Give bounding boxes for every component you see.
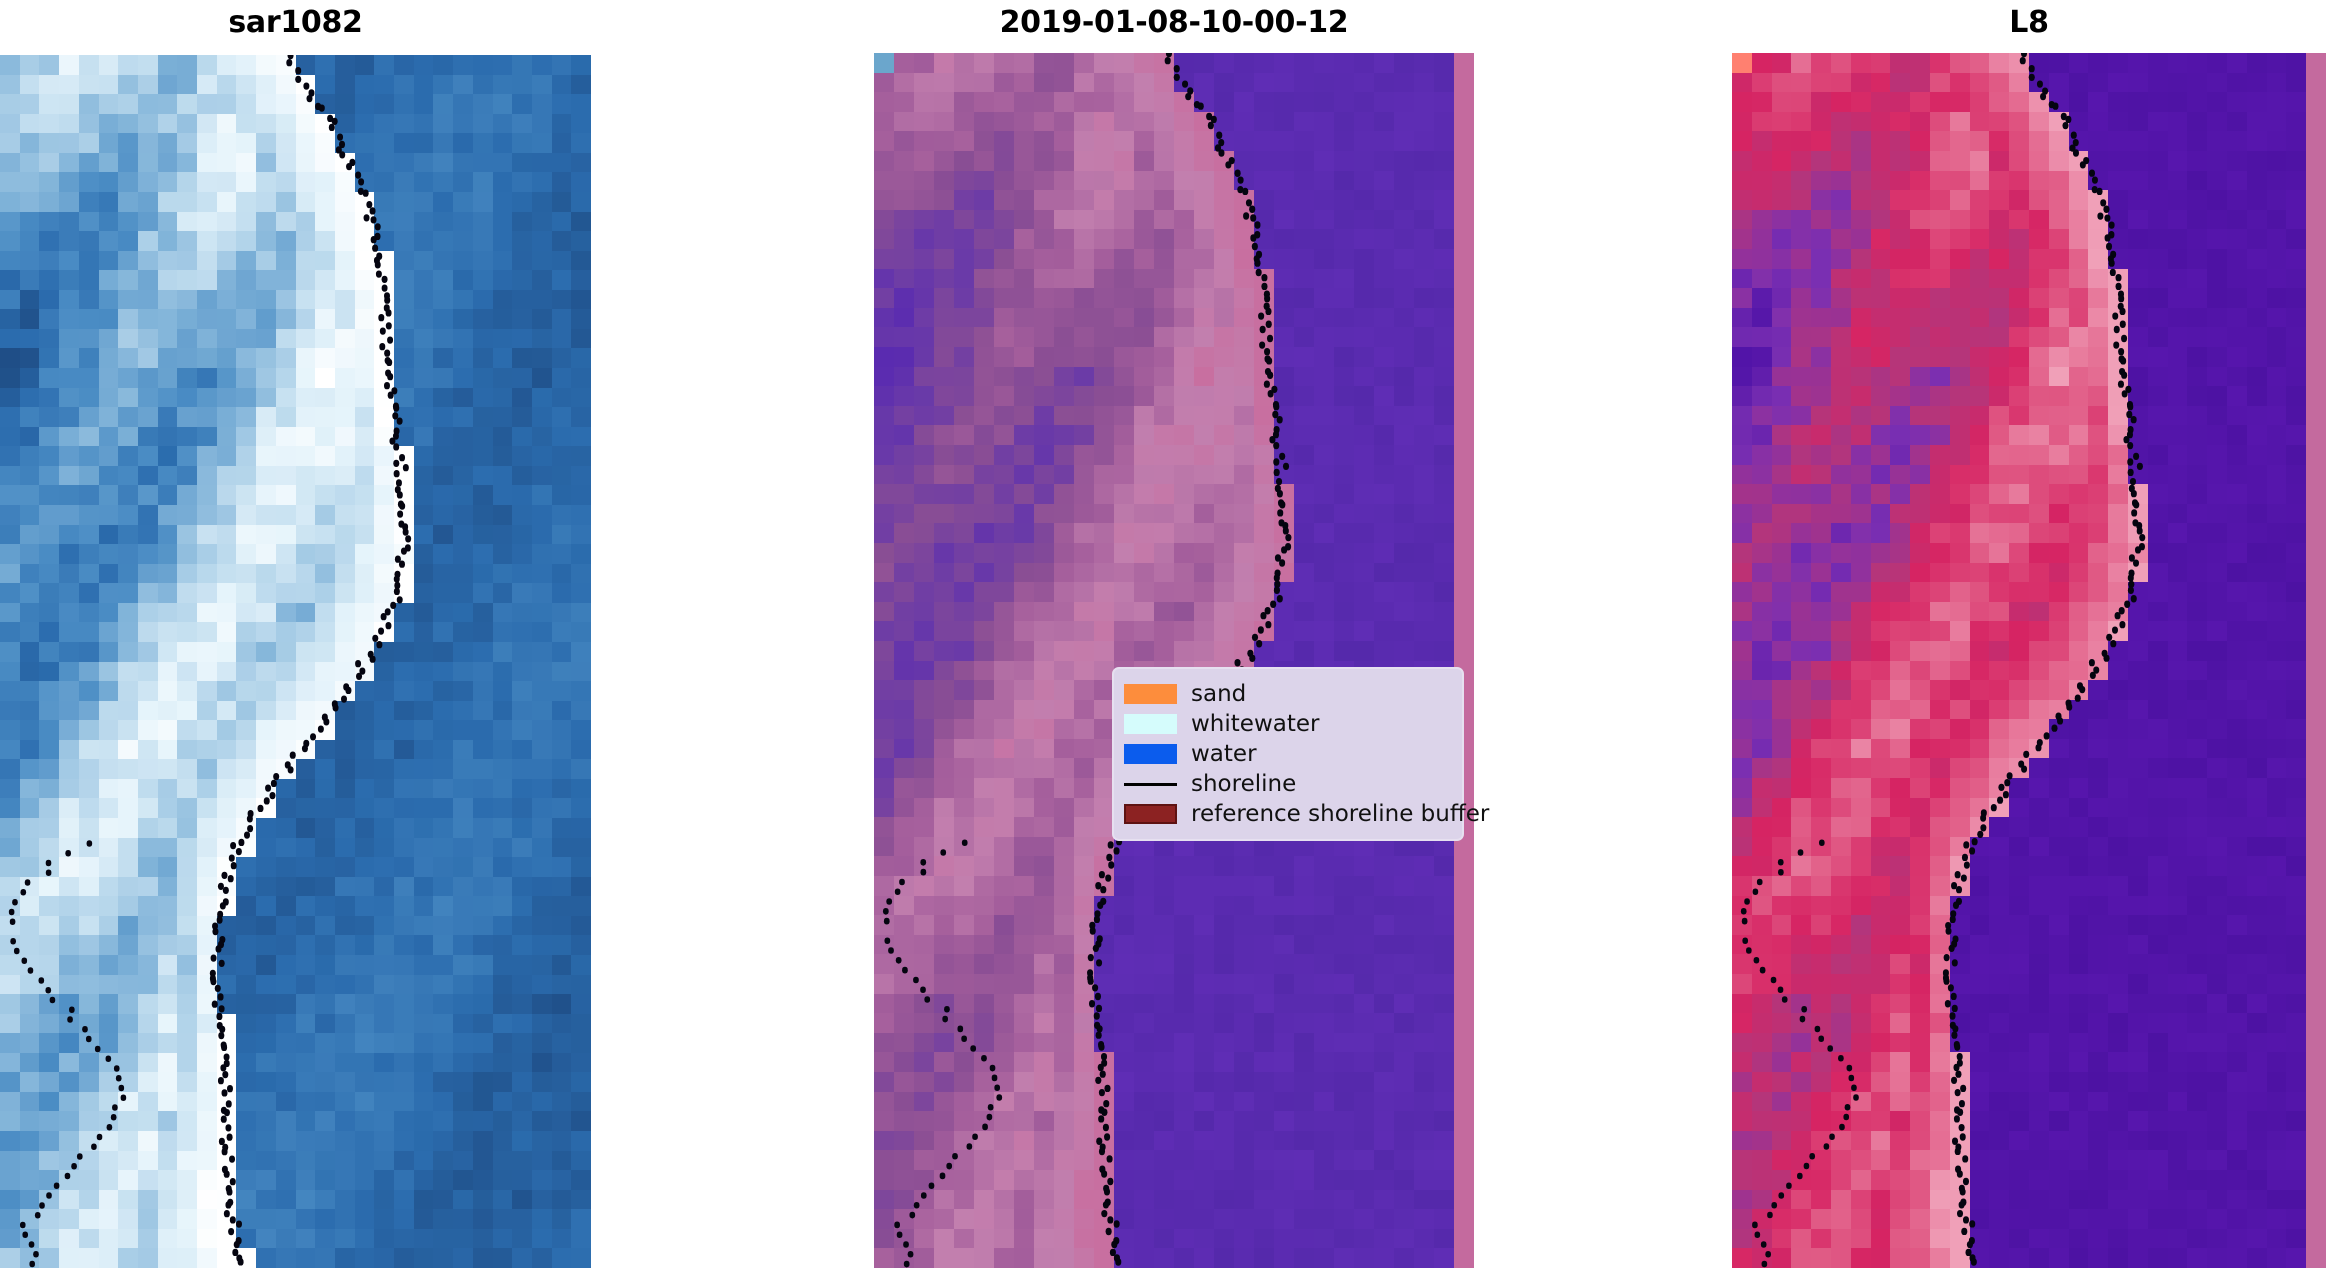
legend-label-sand: sand [1191,681,1246,707]
legend-swatch-sand-icon [1124,684,1177,704]
panel-title-rgb: 2019-01-08-10-00-12 [874,0,1474,45]
legend-swatch-whitewater-icon [1124,714,1177,734]
panel-title-sar: sar1082 [0,0,591,45]
legend-row: shoreline [1124,769,1462,799]
legend-row: water [1124,739,1462,769]
legend-swatch-buffer-icon [1124,804,1177,824]
legend-label-water: water [1191,741,1257,767]
legend-swatch-shoreline-icon [1124,774,1177,794]
image-canvas-sar [0,55,591,1268]
legend-row: whitewater [1124,709,1462,739]
legend-label-whitewater: whitewater [1191,711,1319,737]
panel-title-l8: L8 [1732,0,2326,45]
legend-row: reference shoreline buffer [1124,799,1462,829]
legend-row: sand [1124,679,1462,709]
image-sar[interactable] [0,55,591,1268]
legend-swatch-water-icon [1124,744,1177,764]
image-rgb[interactable] [874,53,1474,1268]
image-canvas-l8 [1732,53,2326,1268]
legend[interactable]: sand whitewater water shoreline referenc… [1112,667,1464,841]
image-l8[interactable] [1732,53,2326,1268]
legend-label-shoreline: shoreline [1191,771,1296,797]
image-canvas-rgb [874,53,1474,1268]
legend-label-buffer: reference shoreline buffer [1191,801,1489,827]
figure-root: sar1082 2019-01-08-10-00-12 L8 sand whit… [0,0,2341,1283]
